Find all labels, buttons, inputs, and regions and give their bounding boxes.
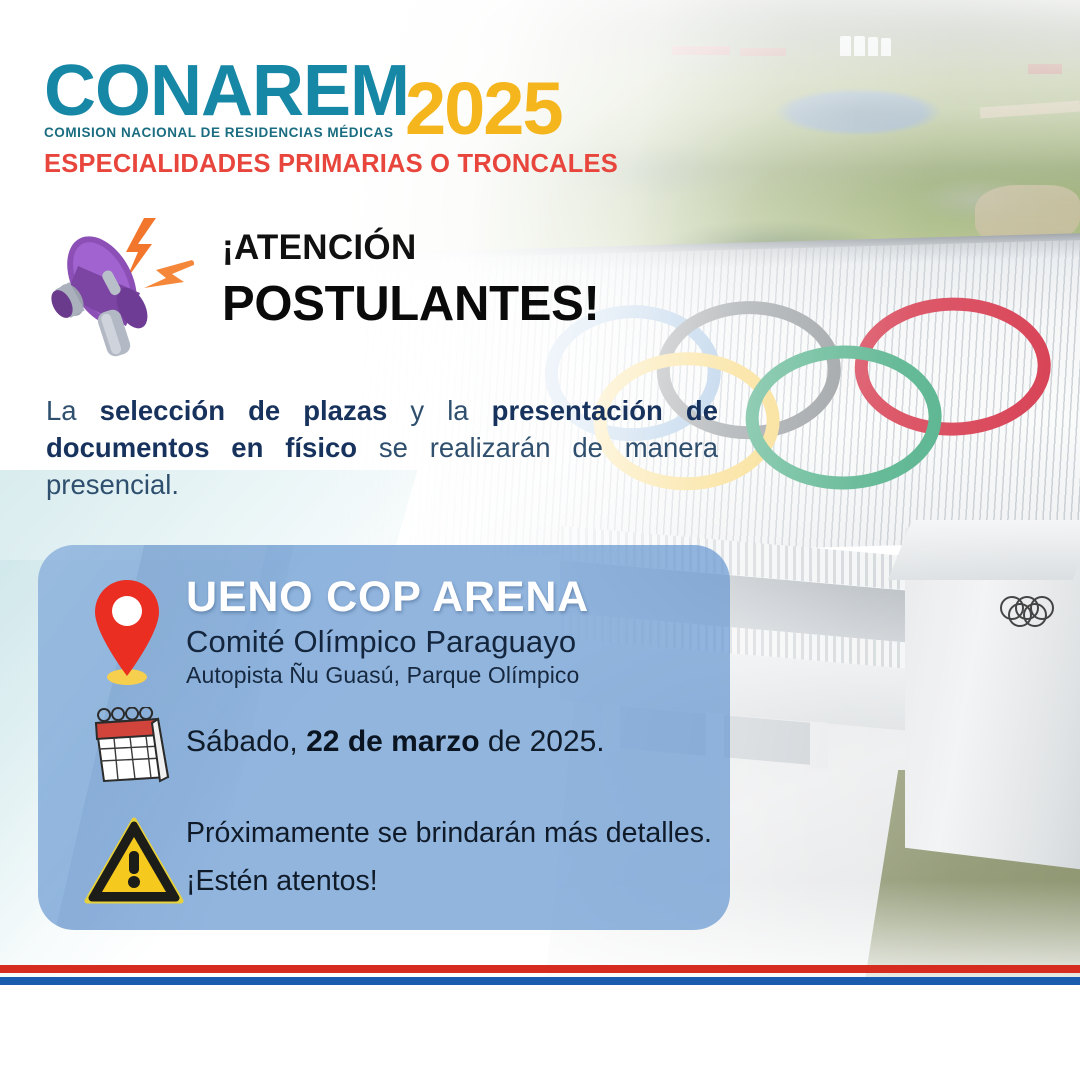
date-suffix: de 2025. [480, 725, 605, 758]
brand-left: CONAREM COMISION NACIONAL DE RESIDENCIAS… [44, 58, 409, 140]
event-date: Sábado, 22 de marzo de 2025. [186, 725, 605, 759]
date-prefix: Sábado, [186, 725, 306, 758]
calendar-icon [90, 707, 176, 785]
announcement-paragraph: La selección de plazas y la presentación… [46, 393, 718, 504]
venue-address: Autopista Ñu Guasú, Parque Olímpico [186, 662, 579, 689]
para-part-2: y la [387, 395, 491, 426]
footer-bar: GOBIERNODEL PARAGUAY MINISTERIO DE SALUD… [0, 985, 1080, 1080]
specialties-label: ESPECIALIDADES PRIMARIAS O TRONCALES [44, 150, 618, 179]
brand-row: CONAREM COMISION NACIONAL DE RESIDENCIAS… [44, 58, 618, 140]
note-line-2: ¡Estén atentos! [186, 865, 378, 898]
para-part-1: La [46, 395, 100, 426]
flag-stripe-red [0, 965, 1080, 973]
attention-block: ¡ATENCIÓN POSTULANTES! [44, 200, 604, 360]
poster-canvas: CONAREM COMISION NACIONAL DE RESIDENCIAS… [0, 0, 1080, 1080]
brand-name: CONAREM [44, 58, 409, 124]
conarem-logo: CONAREM COMISION NACIONAL DE RESIDENCIAS… [44, 58, 618, 179]
map-pin-icon [93, 578, 161, 688]
warning-triangle-icon [84, 817, 184, 905]
megaphone-icon [44, 218, 194, 358]
info-card: UENO COP ARENA Comité Olímpico Paraguayo… [38, 545, 730, 930]
attention-line-2: POSTULANTES! [222, 276, 600, 332]
brand-subtitle: COMISION NACIONAL DE RESIDENCIAS MÉDICAS [44, 125, 409, 140]
para-bold-1: selección de plazas [100, 395, 388, 426]
attention-line-1: ¡ATENCIÓN [222, 228, 417, 268]
note-line-1: Próximamente se brindarán más detalles. [186, 817, 712, 850]
venue-subtitle: Comité Olímpico Paraguayo [186, 624, 576, 660]
flag-stripe-blue [0, 977, 1080, 985]
brand-year: 2025 [405, 76, 562, 143]
venue-name: UENO COP ARENA [186, 573, 589, 622]
date-bold: 22 de marzo [306, 725, 479, 758]
